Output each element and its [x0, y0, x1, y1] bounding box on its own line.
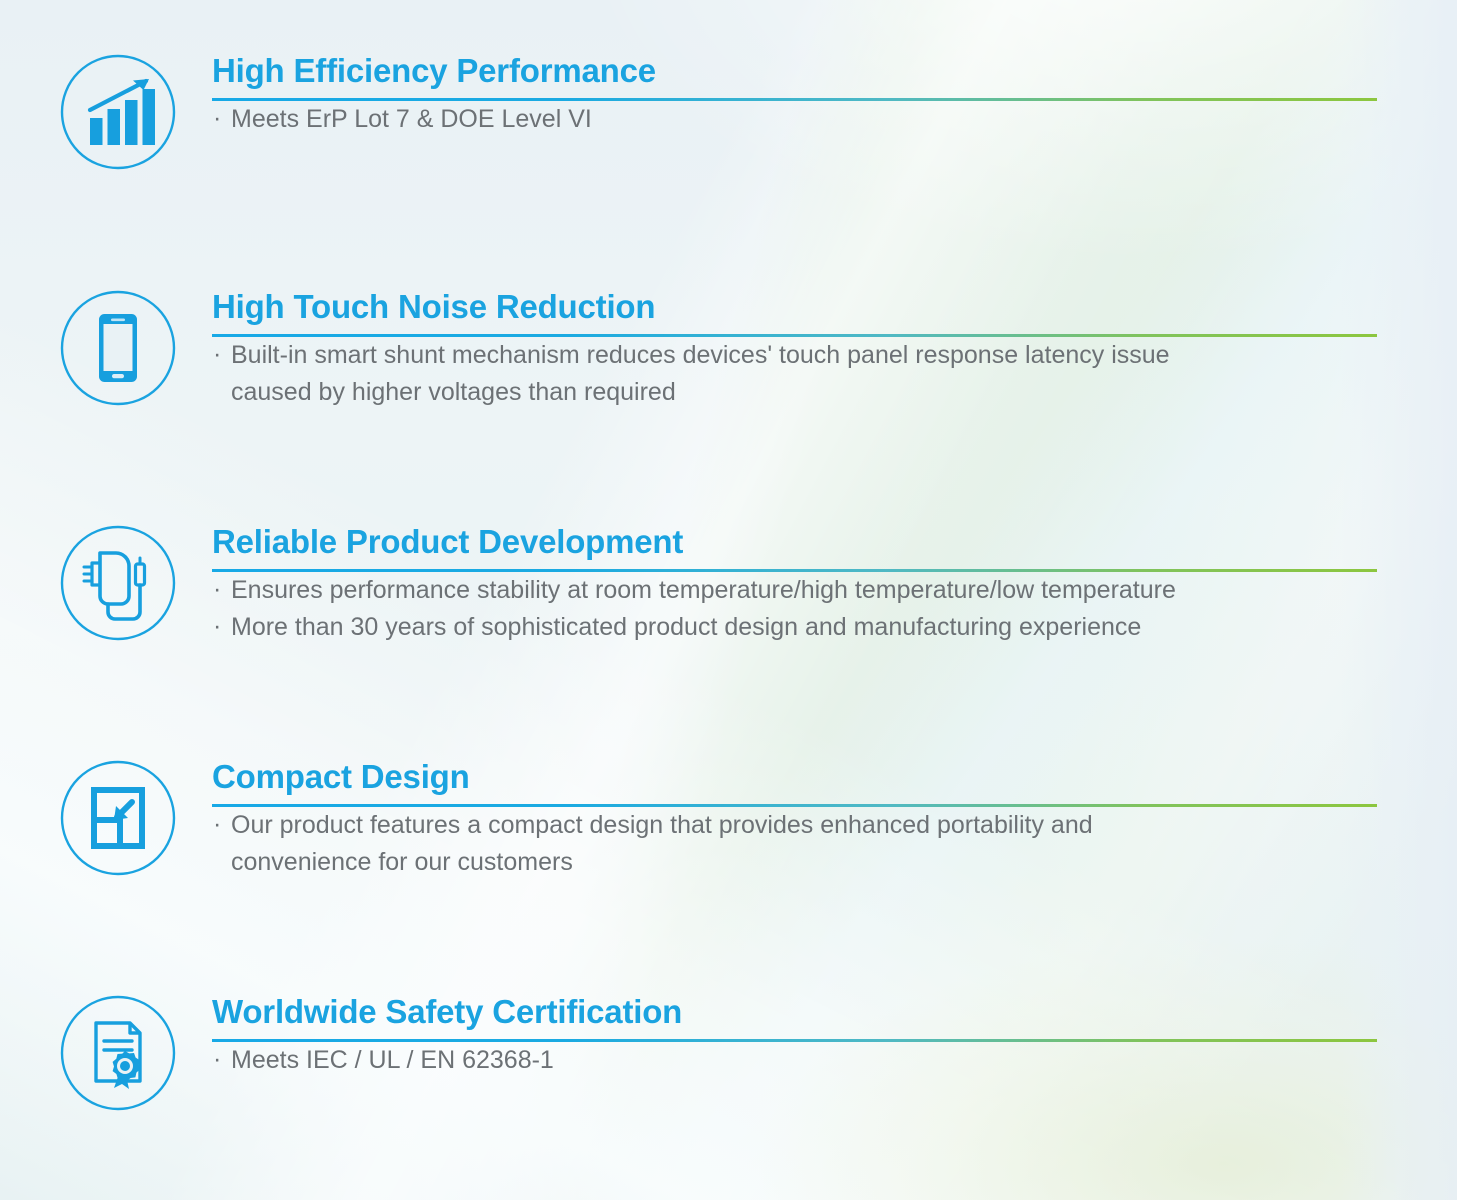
feature-bullet-list: Meets ErP Lot 7 & DOE Level VI	[212, 101, 1377, 138]
feature-title: Reliable Product Development	[212, 523, 1377, 561]
feature-title: High Touch Noise Reduction	[212, 288, 1377, 326]
feature-list: High Efficiency Performance Meets ErP Lo…	[0, 0, 1457, 1200]
feature-content: Reliable Product Development Ensures per…	[212, 523, 1377, 646]
feature-bullet: Meets IEC / UL / EN 62368-1	[212, 1042, 1377, 1079]
feature-bullet: More than 30 years of sophisticated prod…	[212, 609, 1377, 646]
feature-bullet-list: Built-in smart shunt mechanism reduces d…	[212, 337, 1377, 411]
feature-bullet: Ensures performance stability at room te…	[212, 572, 1377, 609]
feature-bullet: Meets ErP Lot 7 & DOE Level VI	[212, 101, 1377, 138]
feature-title: High Efficiency Performance	[212, 52, 1377, 90]
smartphone-icon	[58, 288, 178, 408]
feature-content: High Touch Noise Reduction Built-in smar…	[212, 288, 1377, 411]
feature-content: Worldwide Safety Certification Meets IEC…	[212, 993, 1377, 1079]
feature-bullet-list: Our product features a compact design th…	[212, 807, 1377, 881]
feature-title: Compact Design	[212, 758, 1377, 796]
feature-bullet-continuation: convenience for our customers	[212, 844, 1377, 881]
feature-title: Worldwide Safety Certification	[212, 993, 1377, 1031]
bar-chart-growth-icon	[58, 52, 178, 172]
feature-bullet-list: Meets IEC / UL / EN 62368-1	[212, 1042, 1377, 1079]
feature-bullet: Our product features a compact design th…	[212, 807, 1377, 844]
feature-bullet-continuation: caused by higher voltages than required	[212, 374, 1377, 411]
resize-compact-icon	[58, 758, 178, 878]
power-adapter-icon	[58, 523, 178, 643]
certificate-seal-icon	[58, 993, 178, 1113]
feature-bullet-list: Ensures performance stability at room te…	[212, 572, 1377, 646]
feature-content: High Efficiency Performance Meets ErP Lo…	[212, 52, 1377, 138]
feature-content: Compact Design Our product features a co…	[212, 758, 1377, 881]
feature-highlights-page: High Efficiency Performance Meets ErP Lo…	[0, 0, 1457, 1200]
feature-bullet: Built-in smart shunt mechanism reduces d…	[212, 337, 1377, 374]
